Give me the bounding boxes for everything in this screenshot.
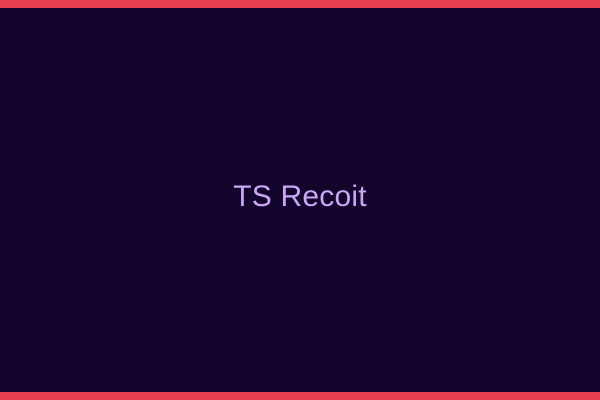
content-stage: TS Recoit <box>0 8 600 392</box>
top-accent-band <box>0 0 600 8</box>
bottom-accent-band <box>0 392 600 400</box>
screen-root: TS Recoit <box>0 0 600 400</box>
page-title: TS Recoit <box>233 182 367 212</box>
